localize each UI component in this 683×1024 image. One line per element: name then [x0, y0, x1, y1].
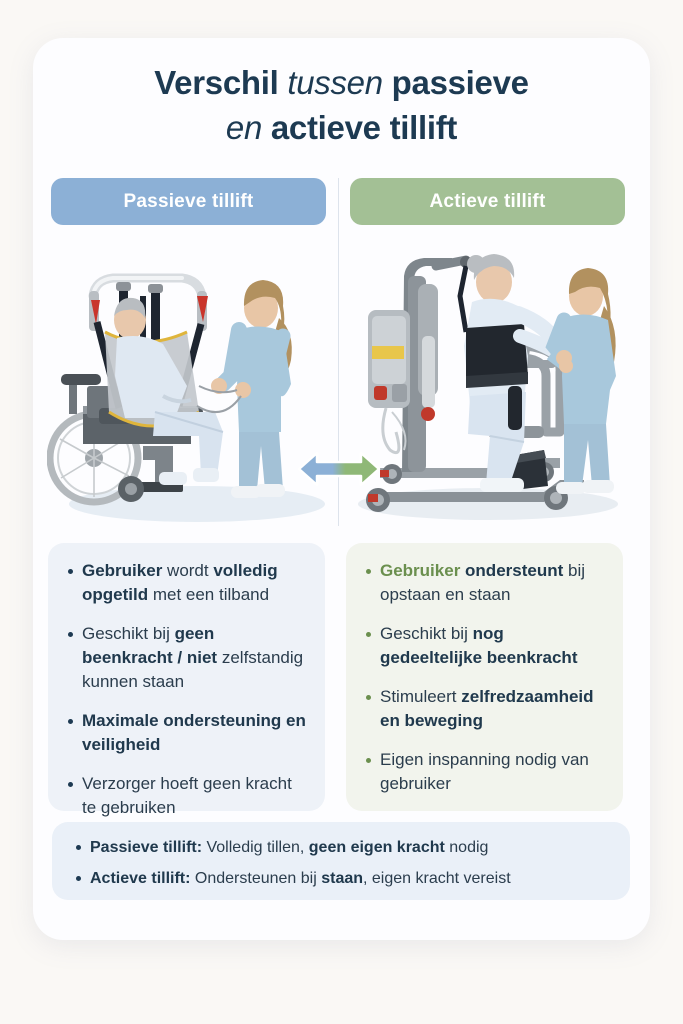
column-header-active-label: Actieve tillift: [430, 191, 546, 213]
title-part-1: Verschil: [154, 64, 278, 101]
list-item-text: Geschikt bij geen beenkracht / niet zelf…: [82, 622, 309, 694]
list-item: Geschikt bij nog gedeeltelijke beenkrach…: [360, 622, 607, 670]
title-part-2: tussen: [287, 64, 382, 101]
bullet-dot-icon: [366, 632, 371, 637]
list-item: Gebruiker wordt volledig opgetild met ee…: [62, 559, 309, 607]
list-item: Maximale ondersteuning en veiligheid: [62, 709, 309, 757]
infographic-card: Verschil tussen passieve en actieve till…: [33, 38, 650, 940]
passive-sling-lift-wheelchair-illustration: [47, 236, 335, 528]
list-item: Stimuleert zelfredzaamheid en beweging: [360, 685, 607, 733]
column-header-passive: Passieve tillift: [51, 178, 326, 225]
column-header-active: Actieve tillift: [350, 178, 625, 225]
bullet-dot-icon: [68, 632, 73, 637]
summary-item-text: Passieve tillift: Volledig tillen, geen …: [90, 836, 488, 859]
passive-benefits-card: Gebruiker wordt volledig opgetild met ee…: [48, 543, 325, 811]
summary-box: Passieve tillift: Volledig tillen, geen …: [52, 822, 630, 900]
bidirectional-comparison-arrow: [295, 446, 383, 492]
list-item-text: Verzorger hoeft geen kracht te gebruiken: [82, 772, 309, 820]
column-header-passive-label: Passieve tillift: [124, 191, 254, 213]
bullet-dot-icon: [68, 719, 73, 724]
list-item: Gebruiker ondersteunt bij opstaan en sta…: [360, 559, 607, 607]
title-part-5: actieve tillift: [271, 109, 457, 146]
title-part-3: passieve: [392, 64, 529, 101]
bullet-dot-icon: [366, 758, 371, 763]
bullet-dot-icon: [366, 569, 371, 574]
bullet-dot-icon: [76, 845, 81, 850]
list-item-text: Gebruiker ondersteunt bij opstaan en sta…: [380, 559, 607, 607]
list-item-text: Maximale ondersteuning en veiligheid: [82, 709, 309, 757]
bullet-dot-icon: [68, 782, 73, 787]
active-standing-lift-illustration: [348, 236, 636, 528]
list-item-text: Stimuleert zelfredzaamheid en beweging: [380, 685, 607, 733]
list-item: Verzorger hoeft geen kracht te gebruiken: [62, 772, 309, 820]
bullet-dot-icon: [68, 569, 73, 574]
list-item: Eigen inspanning nodig van gebruiker: [360, 748, 607, 796]
infographic-page: Verschil tussen passieve en actieve till…: [0, 0, 683, 1024]
summary-item-text: Actieve tillift: Ondersteunen bij staan,…: [90, 867, 511, 890]
title-part-4: en: [226, 109, 262, 146]
list-item-text: Geschikt bij nog gedeeltelijke beenkrach…: [380, 622, 607, 670]
list-item-text: Eigen inspanning nodig van gebruiker: [380, 748, 607, 796]
bullet-dot-icon: [76, 876, 81, 881]
active-benefits-card: Gebruiker ondersteunt bij opstaan en sta…: [346, 543, 623, 811]
summary-item: Actieve tillift: Ondersteunen bij staan,…: [70, 867, 612, 890]
bullet-dot-icon: [366, 695, 371, 700]
page-title: Verschil tussen passieve en actieve till…: [33, 60, 650, 150]
list-item-text: Gebruiker wordt volledig opgetild met ee…: [82, 559, 309, 607]
list-item: Geschikt bij geen beenkracht / niet zelf…: [62, 622, 309, 694]
summary-item: Passieve tillift: Volledig tillen, geen …: [70, 836, 612, 859]
